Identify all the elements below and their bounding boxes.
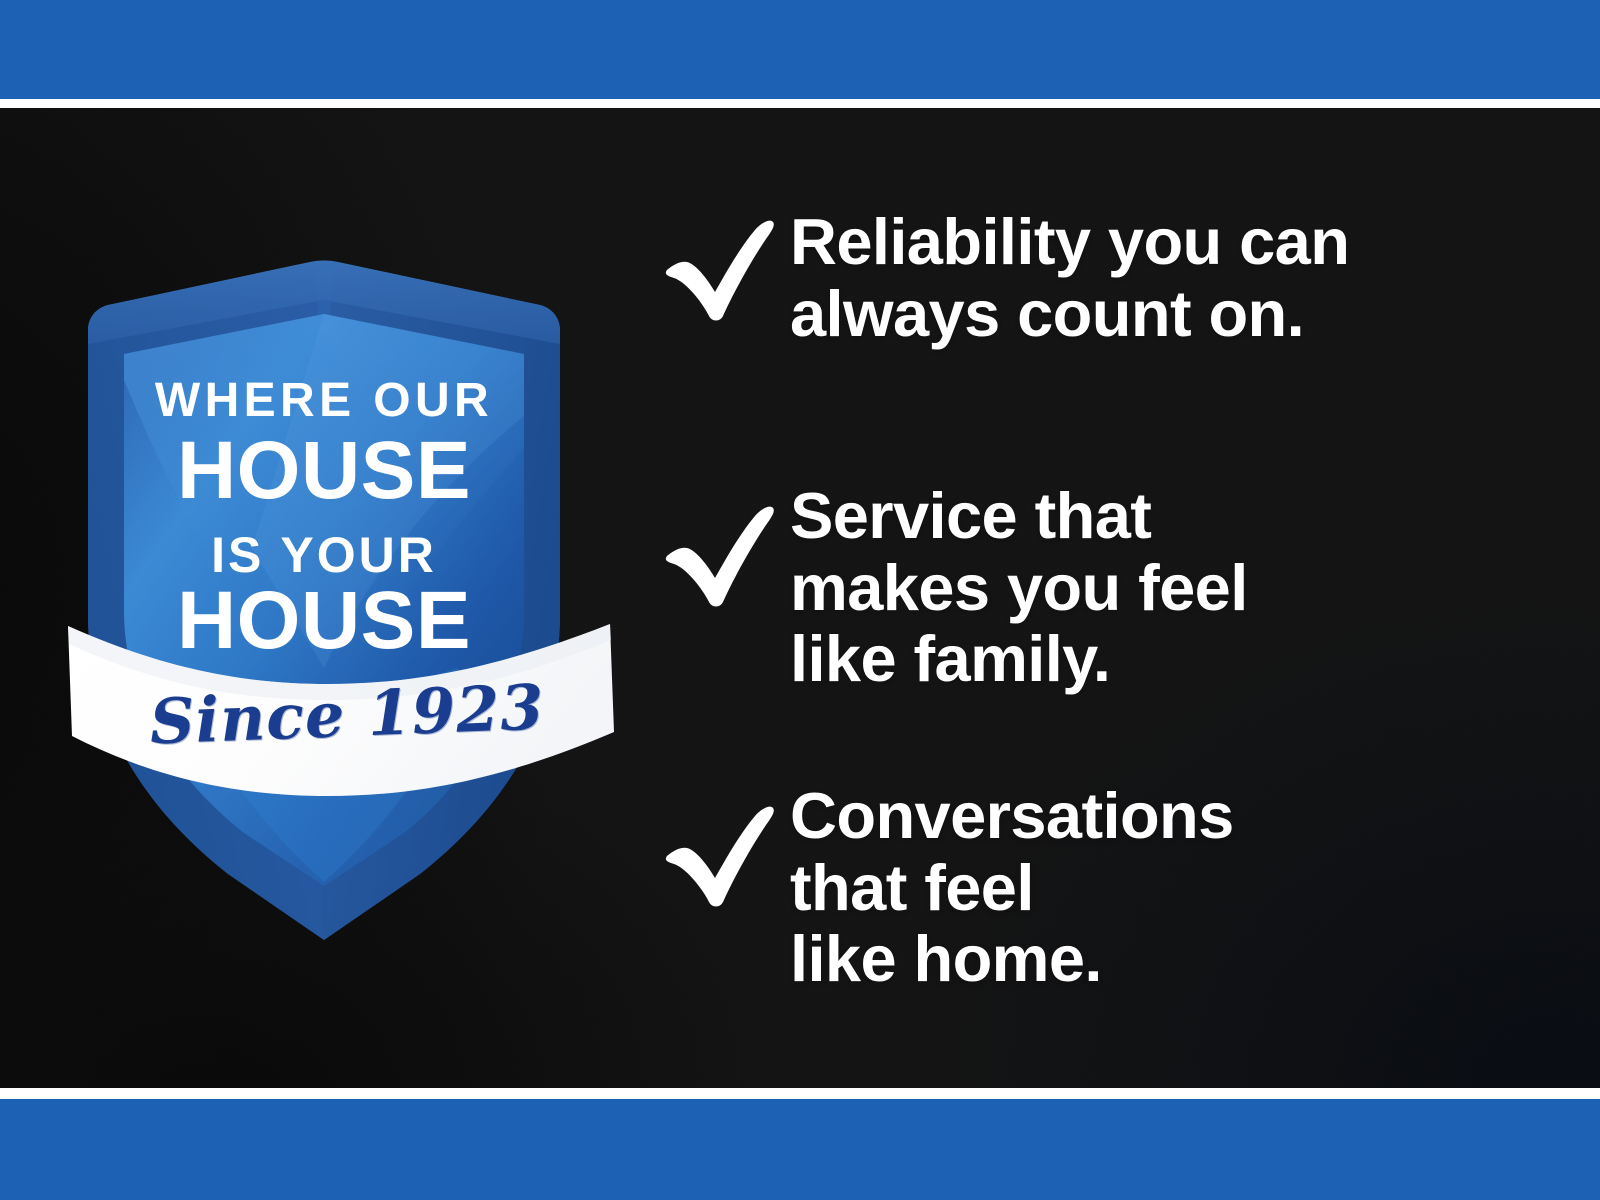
top-divider: [0, 99, 1600, 108]
benefit-text-3: Conversations that feel like home.: [790, 780, 1234, 995]
checkmark-icon: [660, 206, 790, 329]
logo-line-1: WHERE OUR: [155, 374, 493, 427]
benefit-item-1: Reliability you can always count on.: [660, 206, 1349, 349]
logo-line-2: HOUSE: [177, 425, 471, 516]
shield-graphic: WHERE OUR HOUSE IS YOUR HOUSE: [62, 148, 632, 948]
checkmark-icon: [660, 480, 790, 615]
benefit-text-1: Reliability you can always count on.: [790, 206, 1349, 349]
bottom-brand-bar: [0, 1099, 1600, 1200]
bottom-divider: [0, 1088, 1600, 1099]
top-brand-bar: [0, 0, 1600, 99]
logo-line-4: HOUSE: [177, 575, 471, 666]
benefit-item-3: Conversations that feel like home.: [660, 780, 1234, 995]
benefits-list: Reliability you can always count on. Ser…: [660, 108, 1560, 1088]
brand-logo: WHERE OUR HOUSE IS YOUR HOUSE Since 1923: [62, 148, 632, 948]
benefit-text-2: Service that makes you feel like family.: [790, 480, 1248, 695]
benefit-item-2: Service that makes you feel like family.: [660, 480, 1248, 695]
checkmark-icon: [660, 780, 790, 915]
